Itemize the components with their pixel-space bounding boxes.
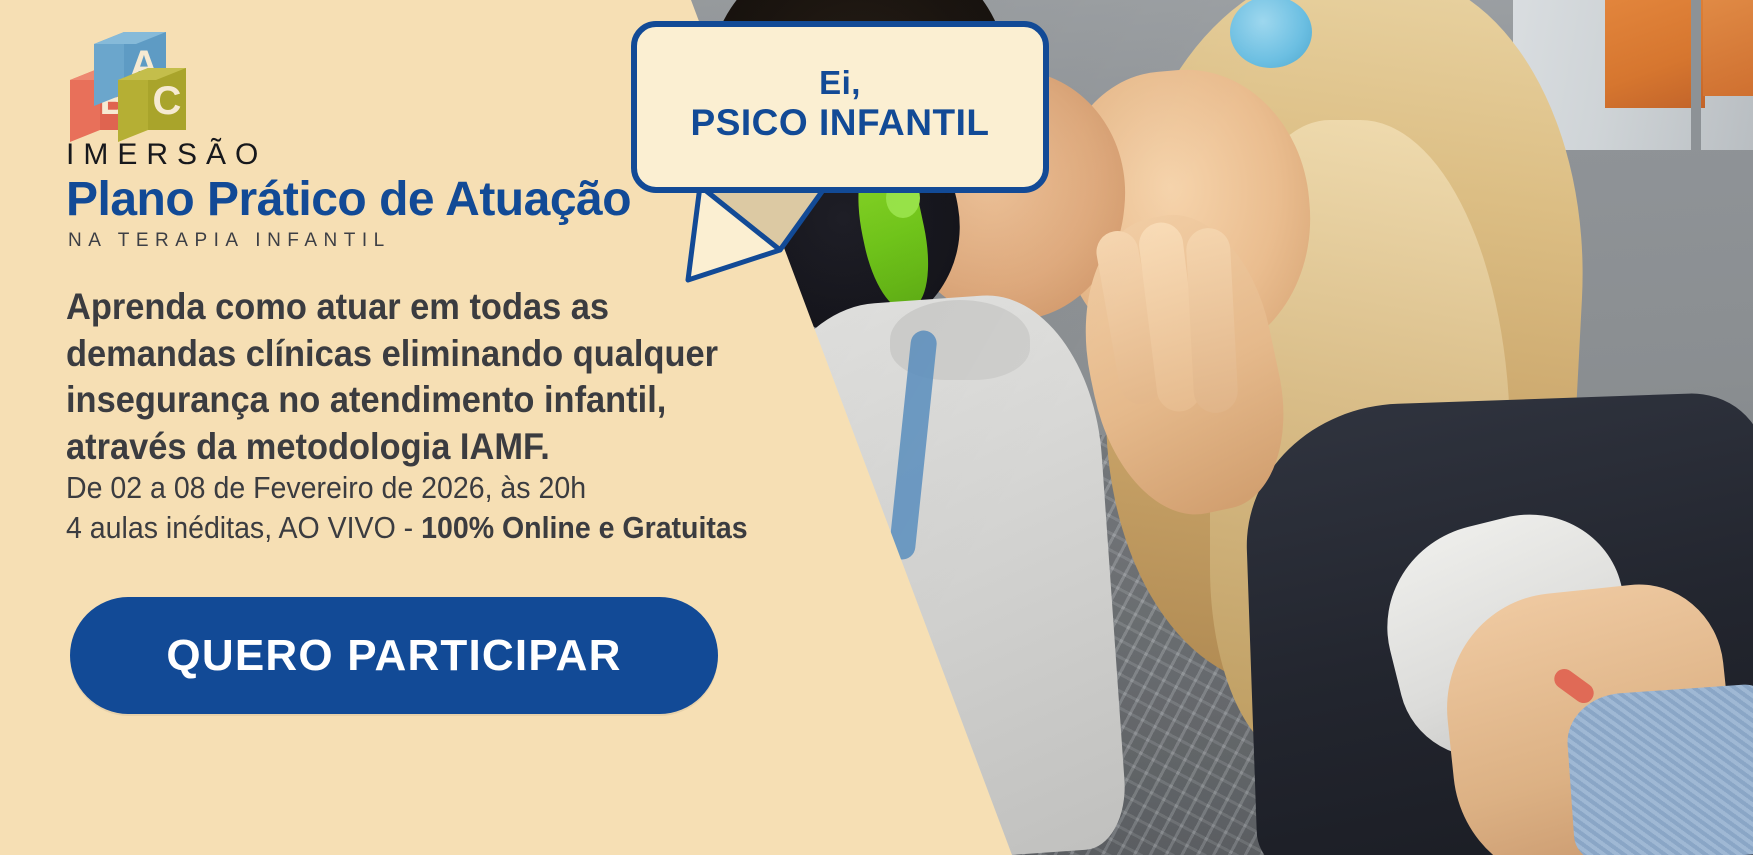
subtitle-text: NA TERAPIA INFANTIL — [68, 230, 391, 252]
speech-bubble: Ei, PSICO INFANTIL — [630, 18, 1050, 318]
bubble-body — [634, 24, 1046, 190]
svg-text:C: C — [153, 79, 182, 123]
page-title: Plano Prático de Atuação — [66, 172, 631, 227]
detail-format-prefix: 4 aulas inéditas, AO VIVO - — [66, 510, 421, 545]
abc-blocks-logo: B A C — [64, 22, 194, 144]
detail-date: De 02 a 08 de Fevereiro de 2026, às 20h — [66, 470, 894, 506]
kicker-text: IMERSÃO — [66, 138, 267, 172]
cta-button[interactable]: QUERO PARTICIPAR — [70, 597, 718, 714]
abc-blocks-icon: B A C — [64, 22, 194, 144]
detail-format-bold: 100% Online e Gratuitas — [421, 510, 748, 545]
block-c: C — [118, 68, 186, 142]
promo-banner: B A C IMERSÃO Plano Prático de Atuação N… — [0, 0, 1753, 855]
detail-format: 4 aulas inéditas, AO VIVO - 100% Online … — [66, 510, 894, 546]
speech-bubble-shape — [630, 18, 1050, 318]
